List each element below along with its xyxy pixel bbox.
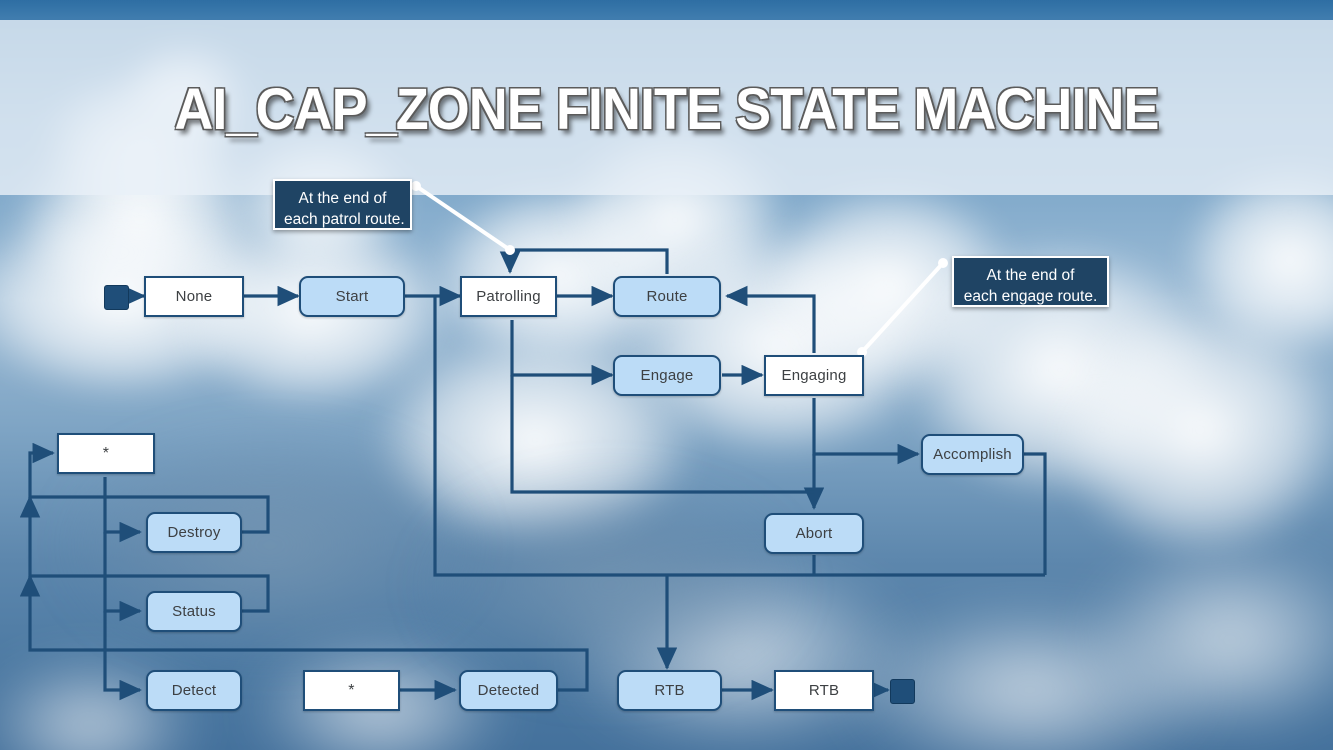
node-label: * (103, 449, 109, 459)
node-accomplish[interactable]: Accomplish (921, 434, 1024, 475)
node-label: Abort (796, 525, 833, 542)
node-destroy[interactable]: Destroy (146, 512, 242, 553)
node-patrolling[interactable]: Patrolling (460, 276, 557, 317)
node-rtb-source[interactable]: RTB (617, 670, 722, 711)
node-engaging[interactable]: Engaging (764, 355, 864, 396)
node-route[interactable]: Route (613, 276, 721, 317)
callout-line-2: each engage route. (963, 286, 1098, 307)
node-rtb-final[interactable]: RTB (774, 670, 874, 711)
node-label: Route (646, 288, 687, 305)
node-label: Detected (478, 682, 540, 699)
node-label: RTB (809, 682, 839, 699)
callout-patrol-route[interactable]: At the end of each patrol route. (273, 179, 412, 230)
node-engage[interactable]: Engage (613, 355, 721, 396)
node-detected[interactable]: Detected (459, 670, 558, 711)
node-label: Engage (641, 367, 694, 384)
callout-line-1: At the end of (284, 188, 401, 209)
node-status[interactable]: Status (146, 591, 242, 632)
callout-engage-route[interactable]: At the end of each engage route. (952, 256, 1109, 307)
node-none[interactable]: None (144, 276, 244, 317)
node-label: Accomplish (933, 446, 1012, 463)
node-label: Engaging (782, 367, 847, 384)
node-label: * (348, 686, 354, 696)
callout-line-1: At the end of (963, 265, 1098, 286)
node-abort[interactable]: Abort (764, 513, 864, 554)
node-any-state-2[interactable]: * (303, 670, 400, 711)
node-start-terminal[interactable] (104, 285, 129, 310)
node-label: Patrolling (476, 288, 541, 305)
node-label: RTB (654, 682, 684, 699)
node-start[interactable]: Start (299, 276, 405, 317)
node-label: Detect (172, 682, 217, 699)
node-end-terminal[interactable] (890, 679, 915, 704)
node-label: None (176, 288, 213, 305)
node-label: Start (336, 288, 369, 305)
node-label: Status (172, 603, 216, 620)
node-label: Destroy (167, 524, 220, 541)
node-detect[interactable]: Detect (146, 670, 242, 711)
page-title: AI_CAP_ZONE FINITE STATE MACHINE (47, 76, 1287, 143)
slide-canvas: AI_CAP_ZONE FINITE STATE MACHINE (0, 0, 1333, 750)
node-any-state-1[interactable]: * (57, 433, 155, 474)
callout-line-2: each patrol route. (284, 209, 401, 230)
